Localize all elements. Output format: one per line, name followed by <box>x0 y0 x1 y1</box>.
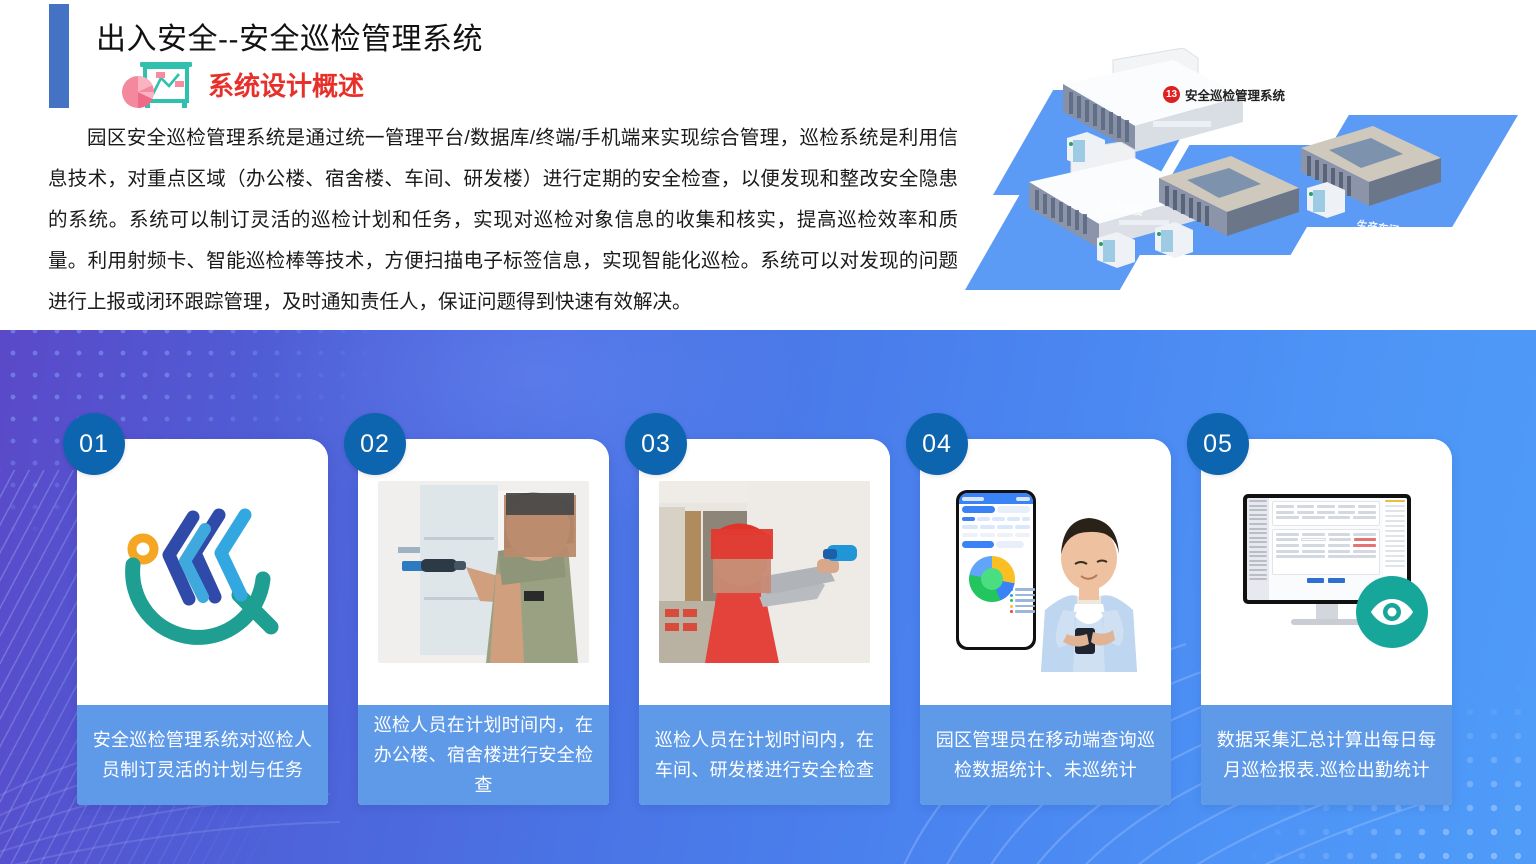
section-subtitle: 系统设计概述 <box>208 66 364 103</box>
step-card-5-media <box>1201 439 1452 705</box>
system-badge: 13 安全巡检管理系统 <box>1163 85 1285 104</box>
step-card-1-number: 01 <box>63 413 125 475</box>
gate-kiosk-office <box>1095 230 1141 270</box>
worker-helmet-scanning-photo <box>659 481 870 663</box>
step-card-4-media <box>920 439 1171 705</box>
overview-paragraph: 园区安全巡检管理系统是通过统一管理平台/数据库/终端/手机端来实现综合管理，巡检… <box>48 118 958 323</box>
step-card-4[interactable]: 园区管理员在移动端查询巡检数据统计、未巡统计 04 <box>920 425 1171 805</box>
form-action-buttons[interactable] <box>1272 578 1380 583</box>
step-card-5-body: 数据采集汇总计算出每日每月巡检报表.巡检出勤统计 <box>1201 439 1452 805</box>
step-card-3-caption: 巡检人员在计划时间内，在车间、研发楼进行安全检查 <box>639 705 890 805</box>
step-card-4-caption: 园区管理员在移动端查询巡检数据统计、未巡统计 <box>920 705 1171 805</box>
step-card-2-caption: 巡检人员在计划时间内，在办公楼、宿舍楼进行安全检查 <box>358 705 609 805</box>
phone-screen <box>959 493 1033 647</box>
gate-kiosk-workshop2 <box>1305 180 1351 220</box>
gate-kiosk-workshop1 <box>1153 220 1199 260</box>
phone-donut-chart <box>969 556 1015 602</box>
step-card-4-number: 04 <box>906 413 968 475</box>
step-card-5-number: 05 <box>1187 413 1249 475</box>
step-card-3-number: 03 <box>625 413 687 475</box>
subtitle-row: 系统设计概述 <box>120 58 364 110</box>
header-section: 出入安全--安全巡检管理系统 系统设计概述 园区安 <box>0 0 1536 330</box>
page-title: 出入安全--安全巡检管理系统 <box>96 14 483 58</box>
building-label-workshop1: 生产车间1 <box>1211 254 1264 277</box>
step-card-3-media <box>639 439 890 705</box>
step-card-1-media <box>77 439 328 705</box>
phone-view-toggle <box>959 539 1033 550</box>
step-card-2-body: 巡检人员在计划时间内，在办公楼、宿舍楼进行安全检查 <box>358 439 609 805</box>
step-card-3[interactable]: 巡检人员在计划时间内，在车间、研发楼进行安全检查 03 <box>639 425 890 805</box>
phone-chart-legend <box>1010 588 1033 616</box>
title-accent-bar <box>49 4 69 108</box>
park-isometric-illustration: 研发大楼 办公大楼 生产车间1 生产车间2 13 安全巡检管理系统 <box>965 30 1525 320</box>
eye-icon <box>1356 576 1428 648</box>
step-card-1-body: 安全巡检管理系统对巡检人员制订灵活的计划与任务 <box>77 439 328 805</box>
step-card-5[interactable]: 数据采集汇总计算出每日每月巡检报表.巡检出勤统计 05 <box>1201 425 1452 805</box>
step-card-2-media <box>358 439 609 705</box>
mobile-statistics-photo <box>940 472 1151 672</box>
badge-number: 13 <box>1163 86 1180 103</box>
step-card-2-number: 02 <box>344 413 406 475</box>
step-card-4-body: 园区管理员在移动端查询巡检数据统计、未巡统计 <box>920 439 1171 805</box>
desktop-report-photo <box>1221 472 1432 672</box>
app-form-panel <box>1269 498 1383 600</box>
form-group-top <box>1272 501 1380 526</box>
step-card-2[interactable]: 巡检人员在计划时间内，在办公楼、宿舍楼进行安全检查 02 <box>358 425 609 805</box>
steps-section: 安全巡检管理系统对巡检人员制订灵活的计划与任务 01 <box>0 330 1536 864</box>
inspection-logo-icon <box>113 487 293 657</box>
presentation-chart-icon <box>120 58 196 110</box>
monitor-stand-base <box>1291 619 1363 625</box>
app-sidebar <box>1247 498 1269 600</box>
slide-root: 出入安全--安全巡检管理系统 系统设计概述 园区安 <box>0 0 1536 864</box>
monitor-stand-neck <box>1316 604 1338 619</box>
phone-task-tabs <box>959 504 1033 515</box>
form-group-bottom <box>1272 529 1380 575</box>
manager-photo <box>1033 492 1145 672</box>
building-label-office: 办公大楼 <box>1075 295 1123 317</box>
phone-mockup <box>956 490 1036 650</box>
phone-app-header <box>959 493 1033 504</box>
phone-period-tabs <box>959 515 1033 523</box>
gate-kiosk-research <box>1065 130 1111 170</box>
step-card-3-body: 巡检人员在计划时间内，在车间、研发楼进行安全检查 <box>639 439 890 805</box>
phone-filter-chips <box>959 523 1033 531</box>
step-card-5-caption: 数据采集汇总计算出每日每月巡检报表.巡检出勤统计 <box>1201 705 1452 805</box>
step-cards: 安全巡检管理系统对巡检人员制订灵活的计划与任务 01 <box>0 330 1536 864</box>
step-card-1[interactable]: 安全巡检管理系统对巡检人员制订灵活的计划与任务 01 <box>77 425 328 805</box>
guard-scanning-photo <box>378 481 589 663</box>
phone-stat-numbers <box>959 531 1033 539</box>
step-card-1-caption: 安全巡检管理系统对巡检人员制订灵活的计划与任务 <box>77 705 328 805</box>
badge-label-text: 安全巡检管理系统 <box>1185 85 1285 104</box>
